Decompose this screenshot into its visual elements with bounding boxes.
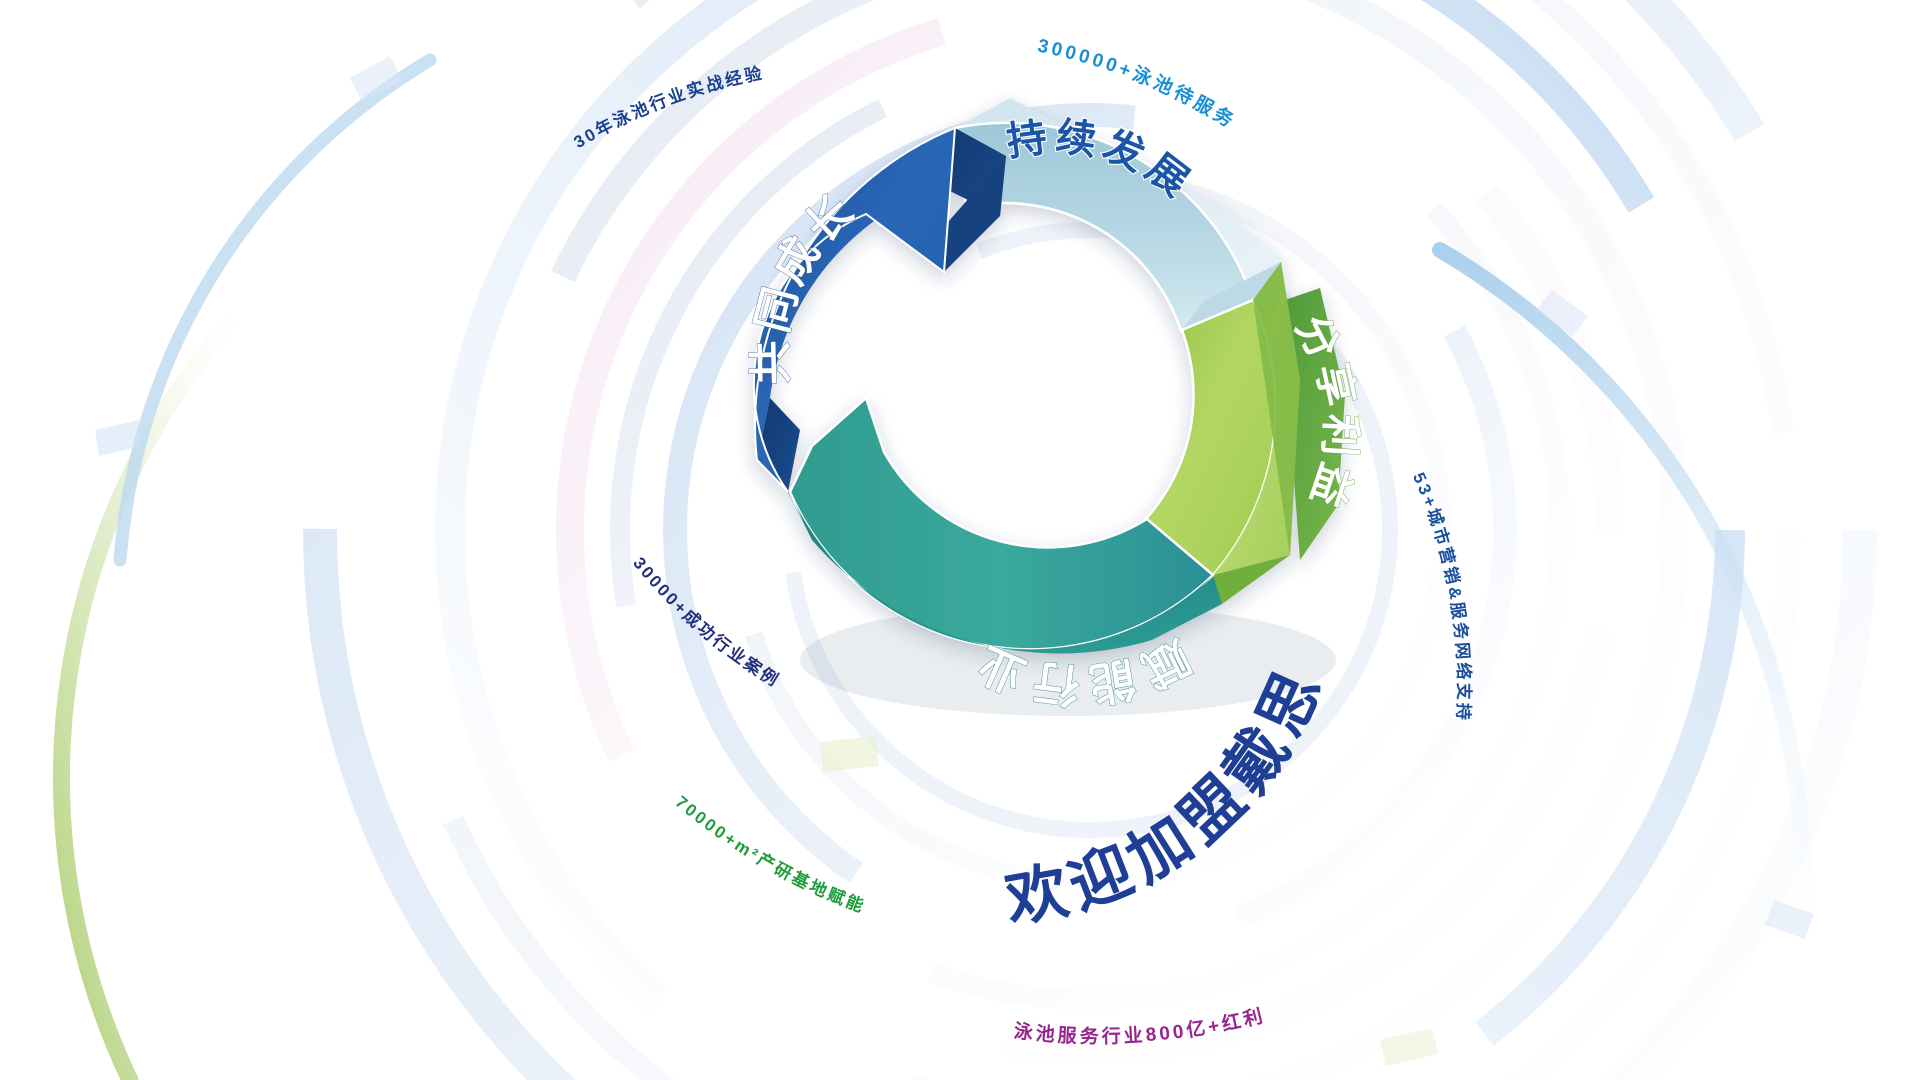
headline-layer: 欢迎加盟戴思乐 bbox=[0, 0, 1920, 1080]
page-title: 欢迎加盟戴思乐 bbox=[0, 0, 1337, 936]
poster-canvas: 30年泳池行业实战经验 300000+泳池待服务 53+城市营销&服务网络支持 … bbox=[0, 0, 1920, 1080]
